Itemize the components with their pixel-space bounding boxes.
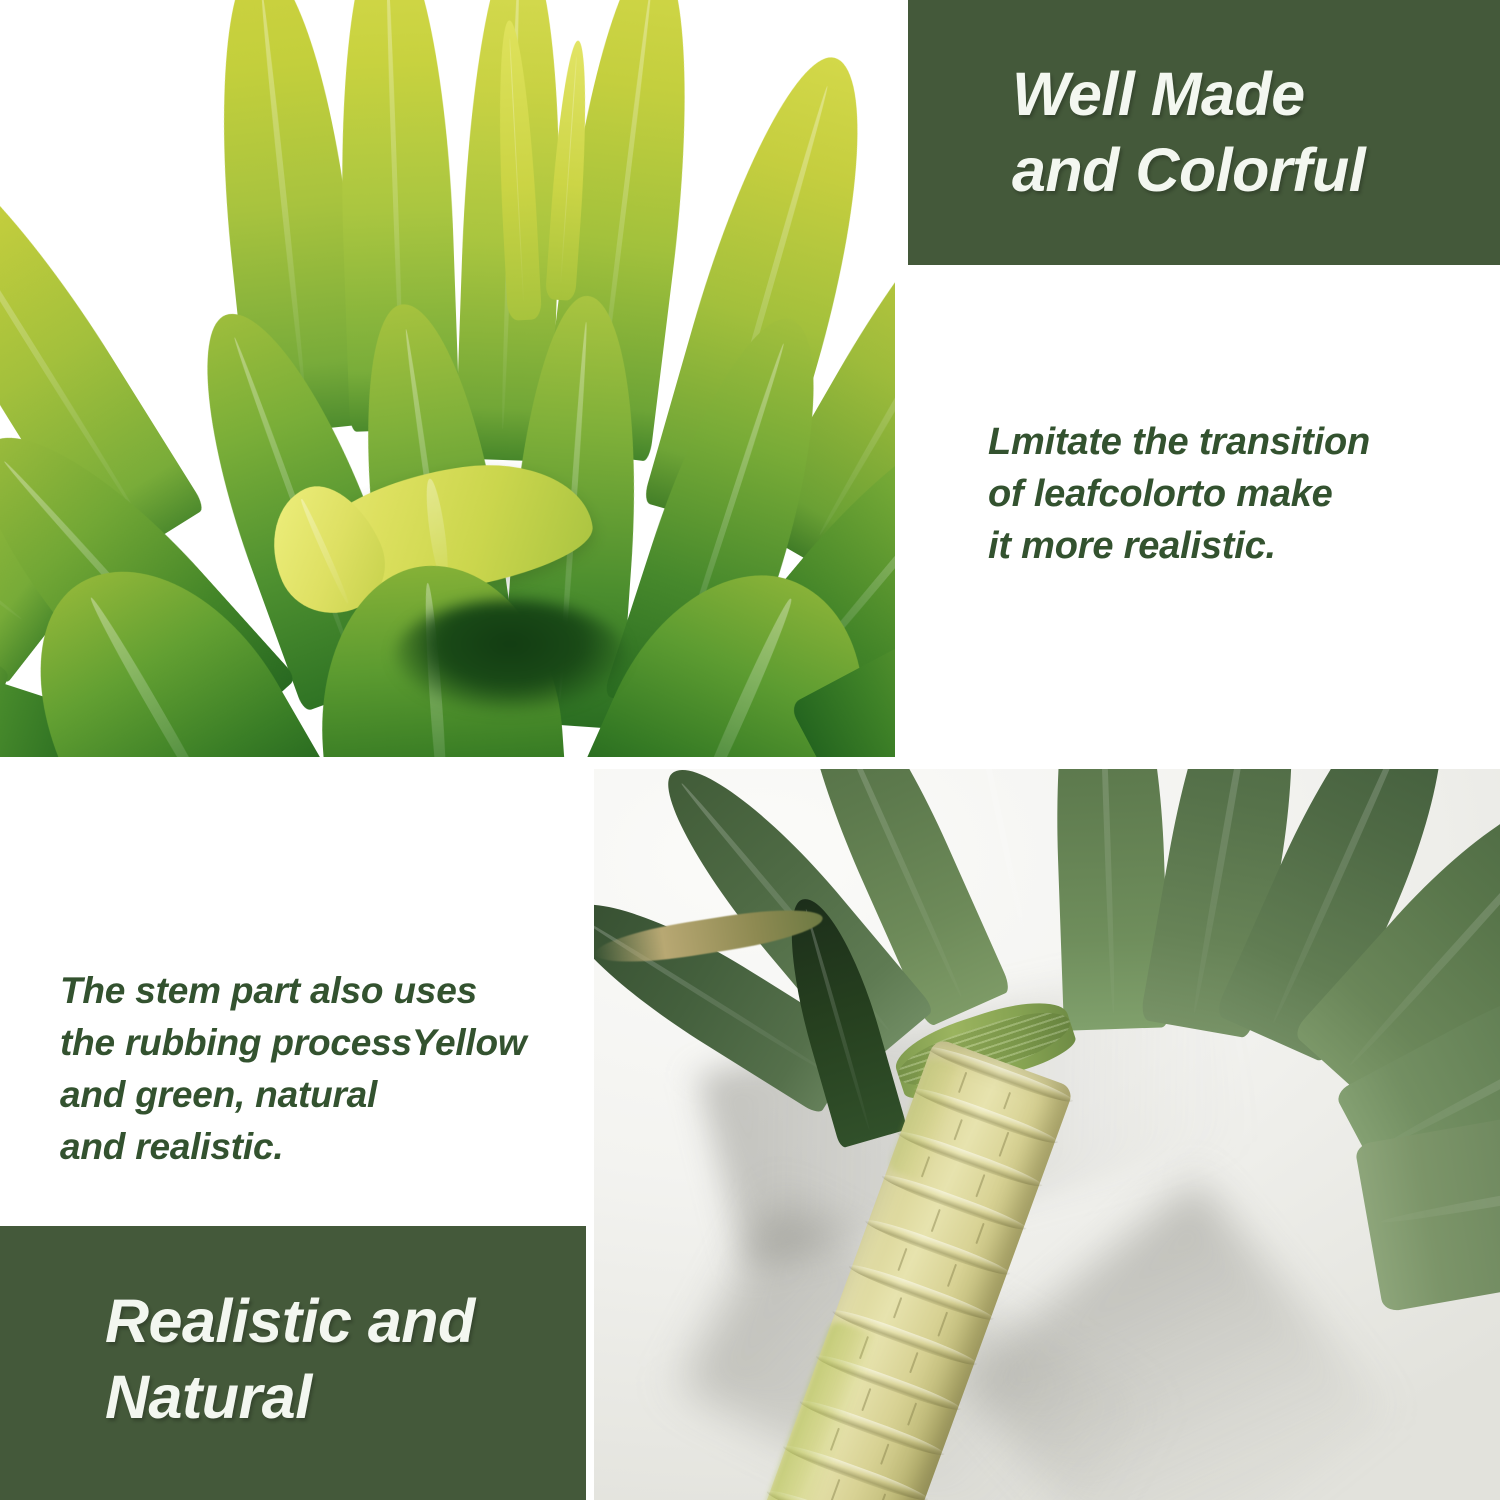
photo-agave-crown [0, 0, 895, 757]
stem-scratch [830, 1479, 840, 1500]
body-copy-stem-rubbing-process: The stem part also uses the rubbing proc… [60, 965, 600, 1173]
stem-scratch [861, 1388, 871, 1411]
stem-scratch [975, 1223, 984, 1244]
stem-scratch [931, 1209, 941, 1232]
panel-heading-well-made: Well Made and Colorful [908, 0, 1500, 265]
crown-leaf-stage [0, 0, 895, 757]
heading-realistic-and-natural: Realistic and Natural [105, 1283, 475, 1435]
stem-ridge [847, 1260, 996, 1325]
photo-agave-stem-detail [594, 769, 1500, 1500]
stem-ridge [863, 1215, 1012, 1280]
stem-scratch [893, 1297, 902, 1318]
stem-ridge [880, 1170, 1029, 1235]
stem-scratch [880, 1444, 889, 1465]
heading-well-made-and-colorful: Well Made and Colorful [1012, 56, 1365, 208]
stem-scratch [897, 1248, 907, 1271]
stem-scratch [937, 1312, 948, 1337]
stem-scratch [1003, 1092, 1011, 1110]
stem-scratch [999, 1132, 1010, 1157]
stem-scratch [953, 1119, 962, 1140]
stem-scratch [975, 1174, 985, 1197]
rosette-core-shadow [395, 600, 625, 710]
infographic-canvas: Well Made and Colorful Lmitate the trans… [0, 0, 1500, 1500]
stem-scratch [947, 1264, 957, 1287]
stem-scratch [909, 1352, 918, 1373]
stem-scratch [877, 1493, 886, 1500]
panel-heading-realistic-natural: Realistic and Natural [0, 1226, 586, 1500]
stem-scratch [907, 1403, 917, 1426]
body-copy-imitate-transition: Lmitate the transition of leafcolorto ma… [988, 416, 1458, 572]
